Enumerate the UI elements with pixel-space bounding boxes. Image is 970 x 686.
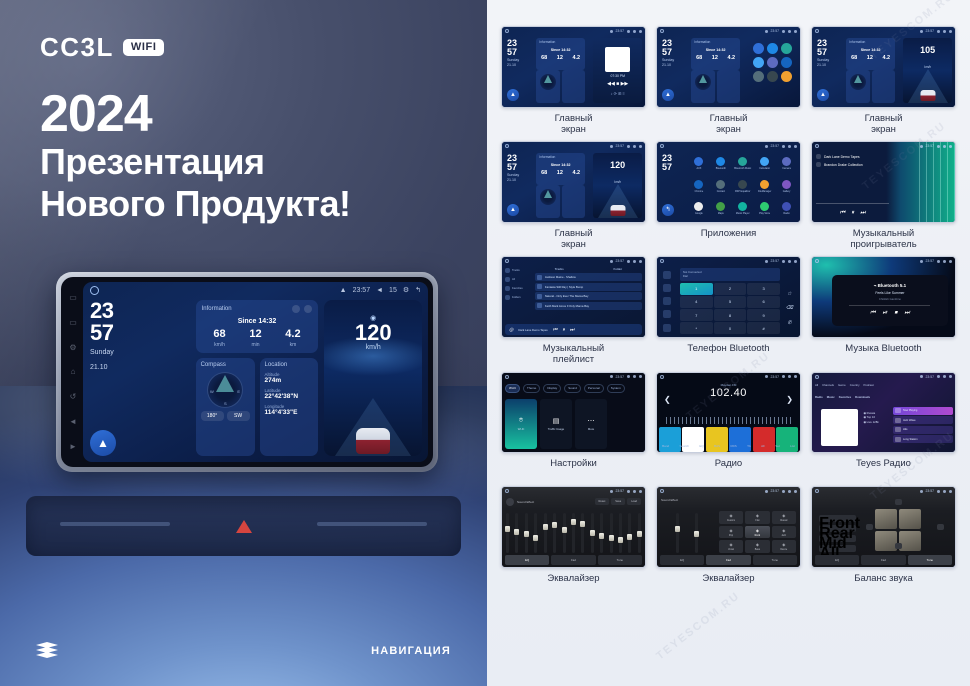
grid-cell[interactable]: 23:57 Dark Lane Demo Tapes Brandon Drake… — [811, 141, 956, 250]
eq-band-handle[interactable] — [562, 527, 567, 533]
grid-cell[interactable]: 23:57 Sound Effect ResetSaveLoad EQFadTu… — [501, 486, 646, 595]
home-icon[interactable] — [815, 489, 819, 493]
radio-tool[interactable]: TA — [747, 444, 751, 448]
gear-icon[interactable]: ⚙ — [403, 286, 409, 294]
key-volume-up-icon[interactable]: ► — [69, 442, 78, 451]
eq-band[interactable] — [506, 513, 509, 553]
frequency-scale[interactable] — [666, 417, 792, 424]
eq-footer-tab[interactable]: Tune — [908, 555, 952, 565]
home-icon[interactable] — [505, 29, 509, 33]
eq-band[interactable] — [515, 513, 518, 553]
radio-tool[interactable]: EQ — [699, 444, 703, 448]
next-icon: ⏭ — [570, 327, 575, 333]
teyes-subtab[interactable]: Favorites — [839, 395, 851, 399]
eq-preset-button[interactable]: ◈Flat — [745, 511, 769, 524]
home-icon[interactable] — [660, 375, 664, 379]
volume-icon — [937, 490, 940, 493]
grid-cell[interactable]: 23:57 Maydan FM 102.40 ❮ ❯ BandSearchEQB… — [656, 372, 801, 481]
balance-position[interactable]: All — [819, 545, 856, 552]
app-item[interactable]: Gallery — [776, 175, 797, 196]
previous-station-icon[interactable]: ❮ — [664, 395, 671, 404]
back-arrow-icon[interactable] — [949, 30, 952, 33]
track-row[interactable]: Brandon Drake Collection — [816, 162, 889, 167]
sidebar-item[interactable]: Folders — [505, 295, 530, 300]
dial-key[interactable]: 7 — [680, 309, 713, 321]
eq-footer-tab[interactable]: EQ — [815, 555, 859, 565]
app-item[interactable]: Play Store — [754, 198, 775, 219]
eq-footer-tab[interactable]: Fad — [706, 555, 750, 565]
back-arrow-icon[interactable] — [639, 375, 642, 378]
sidebar-item[interactable]: Tracks — [505, 268, 530, 273]
search-icon[interactable] — [663, 297, 671, 305]
eq-band-handle[interactable] — [590, 530, 595, 536]
gear-icon[interactable] — [788, 260, 791, 263]
media-controls[interactable]: ◀◀ ■ ▶▶ — [593, 81, 642, 87]
app-item[interactable]: Maps — [710, 198, 731, 219]
grid-cell[interactable]: 23:57 TracksAllFavoritesFolders TracksFo… — [501, 256, 646, 365]
back-arrow-icon[interactable] — [794, 30, 797, 33]
media-widget[interactable]: 07:30 PM ◀◀ ■ ▶▶ ♪ ⟳ ⊞ ≡ — [593, 38, 642, 103]
screenshot-thumbnail[interactable]: 23:57 TracksAllFavoritesFolders TracksFo… — [501, 256, 646, 338]
app-icon[interactable] — [767, 57, 778, 68]
screenshot-thumbnail[interactable]: 23:57 2357 ↰ AUX Bluetooth Bluetooth Mus… — [656, 141, 801, 223]
phone-actions[interactable]: ☆⌫✆ — [781, 283, 798, 334]
eq-presets[interactable]: ◈Custom◈Flat◈Classic◈Pop◈Rock◈Jazz◈Vocal… — [719, 511, 796, 553]
media-controls[interactable]: ⏮⏯⏹⏭ — [870, 310, 910, 317]
station-row[interactable]: Hits — [893, 426, 953, 434]
radio-toolbar[interactable]: BandSearchEQBASRDSTAAFSetList — [657, 441, 800, 451]
back-arrow-icon[interactable] — [949, 490, 952, 493]
home-icon[interactable] — [505, 144, 509, 148]
information-card[interactable]: Information Since 14:32 68124.2 — [536, 153, 585, 185]
settings-cards[interactable]: ⌾ Wi-Fi ▤ Traffic Usage ⋯ More — [505, 399, 642, 450]
home-icon[interactable] — [815, 144, 819, 148]
compass-card[interactable] — [691, 70, 714, 103]
phone-sidebar[interactable] — [657, 265, 677, 337]
dial-key[interactable]: 4 — [680, 296, 713, 308]
playback-bar[interactable]: ◎Dark Lane Demo Tapes ⏮⏸⏭ — [505, 324, 642, 335]
grid-cell[interactable]: 23:57 2357 ↰ AUX Bluetooth Bluetooth Mus… — [656, 141, 801, 250]
app-item[interactable]: Radio — [776, 198, 797, 219]
gear-icon[interactable] — [943, 260, 946, 263]
expand-icon[interactable] — [304, 305, 312, 313]
key-mute-icon[interactable]: ▭ — [69, 318, 78, 327]
grid-cell[interactable]: 23:57 2357 Sunday21.10 ▲ Information Sin… — [501, 141, 646, 250]
navigation-arrow-icon[interactable]: ▲ — [662, 89, 674, 101]
screenshot-thumbnail[interactable]: 23:57 FrontRearMidAll EQFadTune — [811, 486, 956, 568]
eq-band[interactable] — [525, 513, 528, 553]
home-icon[interactable] — [815, 375, 819, 379]
app-icon[interactable] — [753, 71, 764, 82]
eq-band[interactable] — [563, 513, 566, 553]
navigation-arrow-icon[interactable]: ▲ — [507, 204, 519, 216]
teyes-subtab[interactable]: Music — [827, 395, 835, 399]
station-row[interactable]: Long Station — [893, 435, 953, 443]
screenshot-thumbnail[interactable]: 23:57 2357 Sunday21.10 ▲ Information Sin… — [811, 26, 956, 108]
key-power-icon[interactable]: ▭ — [69, 293, 78, 302]
playlist-main[interactable]: TracksFolder Jackson Maine - ShallowFant… — [535, 267, 642, 323]
eq-band-handle[interactable] — [514, 529, 519, 535]
balance-left-icon[interactable] — [866, 524, 873, 530]
app-item[interactable]: Music Player — [732, 198, 753, 219]
app-item[interactable]: Google — [688, 198, 709, 219]
eq-button[interactable]: Load — [627, 498, 641, 505]
app-item[interactable]: Camera — [776, 153, 797, 174]
home-icon[interactable] — [660, 259, 664, 263]
location-card[interactable] — [562, 70, 585, 103]
compass-card[interactable] — [846, 70, 869, 103]
teyes-subtab[interactable]: Radio — [815, 395, 823, 399]
eq-buttons[interactable]: ResetSaveLoad — [595, 498, 641, 505]
key-settings-icon[interactable]: ⚙ — [69, 343, 78, 352]
app-icon[interactable] — [781, 43, 792, 54]
app-icon[interactable] — [781, 57, 792, 68]
teyes-tab[interactable]: Channels — [822, 383, 834, 387]
eq-band[interactable] — [610, 513, 613, 553]
gear-icon[interactable] — [788, 30, 791, 33]
back-arrow-icon[interactable] — [639, 30, 642, 33]
eq-footer[interactable]: EQFadTune — [660, 555, 797, 565]
radio-tool[interactable]: List — [790, 444, 795, 448]
settings-tab[interactable]: Display — [543, 384, 561, 393]
location-card[interactable] — [562, 185, 585, 218]
home-icon[interactable] — [660, 144, 664, 148]
back-arrow-icon[interactable] — [639, 490, 642, 493]
dialpad[interactable]: 123456789*0# — [680, 283, 780, 334]
app-item[interactable]: DSP Equalizer — [732, 175, 753, 196]
eq-footer-tab[interactable]: Fad — [551, 555, 595, 565]
grid-cell[interactable]: 23:57 2357 Sunday21.10 ▲ Information Sin… — [501, 26, 646, 135]
compass-card[interactable]: Compass W E S 180° — [196, 358, 255, 456]
sidebar-item[interactable]: All — [505, 277, 530, 282]
balance-position[interactable]: Rear — [819, 525, 856, 532]
progress-bar[interactable] — [849, 305, 930, 306]
eq-band[interactable] — [628, 513, 631, 553]
gear-icon[interactable] — [633, 375, 636, 378]
home-icon[interactable] — [505, 375, 509, 379]
back-arrow-icon[interactable]: ↰ — [662, 204, 674, 216]
playlist-tabs[interactable]: TracksFolder — [535, 267, 642, 271]
app-icon[interactable] — [753, 57, 764, 68]
media-controls[interactable]: ⏮⏸⏭ — [816, 210, 889, 217]
eq-footer-tab[interactable]: Fad — [861, 555, 905, 565]
app-item[interactable]: Calculator — [754, 153, 775, 174]
grid-cell[interactable]: 23:57 AllChannelsGenreCountryPodcast Rad… — [811, 372, 956, 481]
navigation-arrow-icon[interactable]: ▲ — [507, 89, 519, 101]
back-arrow-icon[interactable] — [639, 145, 642, 148]
station-row[interactable]: Now Playing — [893, 407, 953, 415]
eq-preset-button[interactable]: ◈Dance — [772, 540, 796, 553]
radio-tool[interactable]: AF — [761, 444, 765, 448]
dial-key[interactable]: 0 — [714, 322, 747, 334]
teyes-subtabs[interactable]: RadioMusicFavoritesDownloads — [815, 395, 952, 399]
key-back-icon[interactable]: ↺ — [69, 392, 78, 401]
back-arrow-icon[interactable] — [794, 260, 797, 263]
app-grid[interactable]: AUX Bluetooth Bluetooth Music Calculator… — [688, 153, 797, 219]
gear-icon[interactable] — [943, 490, 946, 493]
gear-icon[interactable] — [943, 375, 946, 378]
location-card[interactable]: Location Altitude 274m Latitude 22°42'38… — [260, 358, 319, 456]
playlist-row[interactable]: Keith Mark Amos II Only Mama Bay — [535, 302, 642, 310]
screenshot-thumbnail[interactable]: 23:57 Wi-FiThemeDisplaySoundPersonalSyst… — [501, 372, 646, 454]
settings-tab[interactable]: Sound — [564, 384, 581, 393]
teyes-subtab[interactable]: Downloads — [855, 395, 870, 399]
eq-band-handle[interactable] — [627, 534, 632, 540]
progress-bar[interactable] — [816, 203, 889, 204]
eq-band-handle[interactable] — [571, 519, 576, 525]
app-item[interactable]: FileManager — [754, 175, 775, 196]
screenshot-thumbnail[interactable]: 23:57 Sound Effect ResetSaveLoad EQFadTu… — [501, 486, 646, 568]
eq-button[interactable]: Reset — [595, 498, 610, 505]
teyes-tab[interactable]: All — [815, 383, 818, 387]
eq-band[interactable] — [600, 513, 603, 553]
eq-footer-tab[interactable]: EQ — [660, 555, 704, 565]
metric-distance: 4.2 km — [285, 329, 300, 348]
app-item[interactable]: Bluetooth Music — [732, 153, 753, 174]
station-row[interactable]: Jazz Wave — [893, 416, 953, 424]
information-card[interactable]: Information Since 14:32 68124.2 — [536, 38, 585, 70]
thumb-status-bar: 23:57 — [502, 142, 645, 150]
grid-cell[interactable]: 23:57 Sound Effect ◈Custom◈Flat◈Classic◈… — [656, 486, 801, 595]
screenshot-thumbnail[interactable]: 23:57 ⌁ Bluetooth 5.1 Feels Like Summer … — [811, 256, 956, 338]
eq-preset-button[interactable]: ◈Jazz — [772, 526, 796, 539]
screenshot-thumbnail[interactable]: 23:57 Not ConnectedDial 123456789*0# ☆⌫✆ — [656, 256, 801, 338]
eq-band[interactable] — [534, 513, 537, 553]
eq-bands[interactable] — [506, 513, 641, 553]
back-arrow-icon[interactable] — [794, 145, 797, 148]
gear-icon[interactable] — [943, 30, 946, 33]
eq-band[interactable] — [553, 513, 556, 553]
gear-icon[interactable] — [788, 490, 791, 493]
track-row[interactable]: Dark Lane Demo Tapes — [816, 154, 889, 159]
dial-key[interactable]: 1 — [680, 283, 713, 295]
recents-icon[interactable] — [663, 310, 671, 318]
compass-card[interactable] — [536, 70, 559, 103]
app-icon[interactable] — [767, 71, 778, 82]
radio-tool[interactable]: Band — [662, 444, 669, 448]
refresh-icon[interactable] — [292, 305, 300, 313]
dial-key[interactable]: 9 — [747, 309, 780, 321]
app-item[interactable]: Contact — [710, 175, 731, 196]
information-actions[interactable] — [292, 305, 312, 313]
information-card[interactable]: Information Since 14:32 68124.2 — [846, 38, 895, 70]
eq-band-handle[interactable] — [637, 531, 642, 537]
head-unit-hard-keys[interactable]: ▭ ▭ ⚙ ⌂ ↺ ◄ ► — [65, 285, 81, 459]
eq-preset-button[interactable]: ◈Rock — [745, 526, 769, 539]
home-icon[interactable] — [815, 259, 819, 263]
back-arrow-icon[interactable] — [639, 260, 642, 263]
app-item[interactable]: AUX — [688, 153, 709, 174]
settings-icon[interactable] — [663, 324, 671, 332]
metric-time-unit: min — [249, 342, 261, 348]
key-volume-down-icon[interactable]: ◄ — [69, 417, 78, 426]
eq-band-handle[interactable] — [543, 524, 548, 530]
eq-band[interactable] — [695, 513, 698, 553]
grid-cell[interactable]: 23:57 2357 Sunday21.10 ▲ Information Sin… — [811, 26, 956, 135]
back-arrow-icon[interactable] — [949, 260, 952, 263]
tab[interactable]: Tracks — [555, 267, 564, 271]
dialpad-icon[interactable] — [663, 271, 671, 279]
drive-widget[interactable]: 120km/h — [593, 153, 642, 218]
dial-key[interactable]: # — [747, 322, 780, 334]
eq-band-handle[interactable] — [533, 535, 538, 541]
grid-cell[interactable]: 23:57 Not ConnectedDial 123456789*0# ☆⌫✆… — [656, 256, 801, 365]
information-card[interactable]: Information Since 14:32 68124.2 — [691, 38, 740, 70]
gear-icon[interactable] — [788, 145, 791, 148]
eq-preset[interactable]: Sound Effect — [661, 498, 678, 502]
balance-position[interactable]: Front — [819, 515, 856, 522]
eq-band-handle[interactable] — [552, 522, 557, 528]
drive-widget[interactable]: ◉ 120 km/h — [324, 300, 422, 456]
settings-card[interactable]: ⋯ More — [575, 399, 607, 450]
station-list[interactable]: Now PlayingJazz WaveHitsLong Station — [893, 407, 953, 450]
grid-cell[interactable]: 23:57 ⌁ Bluetooth 5.1 Feels Like Summer … — [811, 256, 956, 365]
sidebar-item[interactable]: Favorites — [505, 286, 530, 291]
tab[interactable]: Folder — [614, 267, 623, 271]
dial-key[interactable]: 2 — [714, 283, 747, 295]
radio-tool[interactable]: Search — [680, 444, 690, 448]
balance-down-icon[interactable] — [895, 543, 902, 549]
media-extra-controls[interactable]: ♪ ⟳ ⊞ ≡ — [593, 91, 642, 96]
screenshot-thumbnail[interactable]: 23:57 Sound Effect ◈Custom◈Flat◈Classic◈… — [656, 486, 801, 568]
radio-tool[interactable]: BAS — [714, 444, 720, 448]
home-icon[interactable] — [815, 29, 819, 33]
playlist-row[interactable]: Jackson Maine - Shallow — [535, 273, 642, 281]
next-station-icon[interactable]: ❯ — [786, 395, 793, 404]
eq-footer[interactable]: EQFadTune — [505, 555, 642, 565]
gear-icon[interactable] — [633, 260, 636, 263]
app-icon[interactable] — [753, 43, 764, 54]
eq-button[interactable]: Save — [611, 498, 625, 505]
eq-band[interactable] — [676, 513, 679, 553]
navigation-arrow-icon[interactable]: ▲ — [817, 89, 829, 101]
eq-preset-button[interactable]: ◈Bass — [745, 540, 769, 553]
eq-preset-button[interactable]: ◈Classic — [772, 511, 796, 524]
eq-band-handle[interactable] — [524, 531, 529, 537]
settings-tab[interactable]: Personal — [584, 384, 604, 393]
radio-tool[interactable]: RDS — [730, 444, 736, 448]
home-icon[interactable] — [660, 29, 664, 33]
balance-right-icon[interactable] — [937, 524, 944, 530]
gear-icon[interactable] — [633, 30, 636, 33]
compass-card[interactable] — [536, 185, 559, 218]
eq-sliders[interactable] — [668, 513, 705, 553]
eq-footer-tab[interactable]: Tune — [753, 555, 797, 565]
grid-cell[interactable]: 23:57 Wi-FiThemeDisplaySoundPersonalSyst… — [501, 372, 646, 481]
settings-tab[interactable]: Wi-Fi — [505, 384, 520, 393]
balance-up-icon[interactable] — [895, 499, 902, 505]
radio-tool[interactable]: Set — [775, 444, 780, 448]
app-icon[interactable] — [781, 71, 792, 82]
dial-key[interactable]: 8 — [714, 309, 747, 321]
grid-cell[interactable]: 23:57 FrontRearMidAll EQFadTune Баланс з… — [811, 486, 956, 595]
dial-key[interactable]: 3 — [747, 283, 780, 295]
app-icon[interactable] — [767, 43, 778, 54]
app-item[interactable]: Bluetooth — [710, 153, 731, 174]
back-arrow-icon[interactable]: ↰ — [415, 286, 421, 294]
back-arrow-icon[interactable] — [794, 375, 797, 378]
contacts-icon[interactable] — [663, 284, 671, 292]
dial-key[interactable]: * — [680, 322, 713, 334]
teyes-tab[interactable]: Podcast — [864, 383, 874, 387]
hazard-button[interactable] — [222, 514, 266, 540]
drive-widget[interactable]: 105km/h — [903, 38, 952, 103]
settings-card[interactable]: ⌾ Wi-Fi — [505, 399, 537, 450]
settings-tab[interactable]: System — [607, 384, 625, 393]
eq-preset-button[interactable]: ◈Pop — [719, 526, 743, 539]
teyes-tabs[interactable]: AllChannelsGenreCountryPodcast — [815, 383, 952, 387]
back-arrow-icon[interactable] — [794, 490, 797, 493]
screenshot-thumbnail[interactable]: 23:57 Dark Lane Demo Tapes Brandon Drake… — [811, 141, 956, 223]
eq-band[interactable] — [638, 513, 641, 553]
teyes-tab[interactable]: Country — [850, 383, 860, 387]
eq-band[interactable] — [572, 513, 575, 553]
eq-band[interactable] — [581, 513, 584, 553]
eq-band-handle[interactable] — [618, 537, 623, 543]
home-icon[interactable] — [90, 286, 99, 295]
settings-tab[interactable]: Theme — [523, 384, 540, 393]
dial-key[interactable]: 6 — [747, 296, 780, 308]
teyes-tab[interactable]: Genre — [838, 383, 846, 387]
home-icon[interactable] — [505, 489, 509, 493]
dial-key[interactable]: 5 — [714, 296, 747, 308]
back-arrow-icon[interactable] — [949, 375, 952, 378]
eq-band-handle[interactable] — [505, 526, 510, 532]
navigation-arrow-icon[interactable]: ▲ — [90, 430, 116, 456]
eq-band[interactable] — [544, 513, 547, 553]
home-icon[interactable] — [505, 259, 509, 263]
status-time: 23:57 — [926, 29, 935, 33]
playlist-row[interactable]: Fantasia Still Ray | Style Bump — [535, 283, 642, 291]
settings-card[interactable]: ▤ Traffic Usage — [540, 399, 572, 450]
eq-preset-button[interactable]: ◈Custom — [719, 511, 743, 524]
information-since: Since 14:32 — [536, 163, 585, 167]
eq-band-handle[interactable] — [580, 521, 585, 527]
screenshot-thumbnail[interactable]: 23:57 Maydan FM 102.40 ❮ ❯ BandSearchEQB… — [656, 372, 801, 454]
gear-icon[interactable] — [633, 145, 636, 148]
media-controls[interactable]: ⏮⏹⏭♡ — [821, 440, 855, 446]
home-icon[interactable] — [660, 489, 664, 493]
location-card[interactable] — [717, 70, 740, 103]
grid-cell[interactable]: 23:57 2357 Sunday21.10 ▲ Information Sin… — [656, 26, 801, 135]
screenshot-thumbnail[interactable]: 23:57 AllChannelsGenreCountryPodcast Rad… — [811, 372, 956, 454]
eq-footer-tab[interactable]: Tune — [598, 555, 642, 565]
eq-band[interactable] — [591, 513, 594, 553]
eq-preset-button[interactable]: ◈Vocal — [719, 540, 743, 553]
eq-band-handle[interactable] — [609, 535, 614, 541]
screenshot-thumbnail[interactable]: 23:57 2357 Sunday21.10 ▲ Information Sin… — [501, 26, 646, 108]
balance-positions[interactable]: FrontRearMidAll — [819, 515, 856, 555]
screenshot-thumbnail[interactable]: 23:57 2357 Sunday21.10 ▲ Information Sin… — [656, 26, 801, 108]
eq-footer-tab[interactable]: EQ — [505, 555, 549, 565]
app-shortcuts[interactable] — [748, 38, 797, 103]
information-card[interactable]: Information Since 14:32 68 km/h — [196, 300, 319, 353]
eq-band-handle[interactable] — [599, 533, 604, 539]
screenshot-thumbnail[interactable]: 23:57 2357 Sunday21.10 ▲ Information Sin… — [501, 141, 646, 223]
eq-band[interactable] — [619, 513, 622, 553]
key-home-icon[interactable]: ⌂ — [69, 367, 78, 376]
playlist-row[interactable]: Natural - Only Ever The Mama Bay — [535, 292, 642, 300]
eq-preset[interactable]: Sound Effect — [506, 498, 534, 506]
gear-icon[interactable] — [633, 490, 636, 493]
information-metrics: 68124.2 — [536, 170, 585, 176]
eq-footer[interactable]: EQFadTune — [815, 555, 952, 565]
track-list[interactable]: Dark Lane Demo Tapes Brandon Drake Colle… — [816, 154, 889, 170]
location-card[interactable] — [872, 70, 895, 103]
gear-icon[interactable] — [788, 375, 791, 378]
app-item[interactable]: Chrome — [688, 175, 709, 196]
settings-tabs[interactable]: Wi-FiThemeDisplaySoundPersonalSystem — [505, 384, 642, 393]
